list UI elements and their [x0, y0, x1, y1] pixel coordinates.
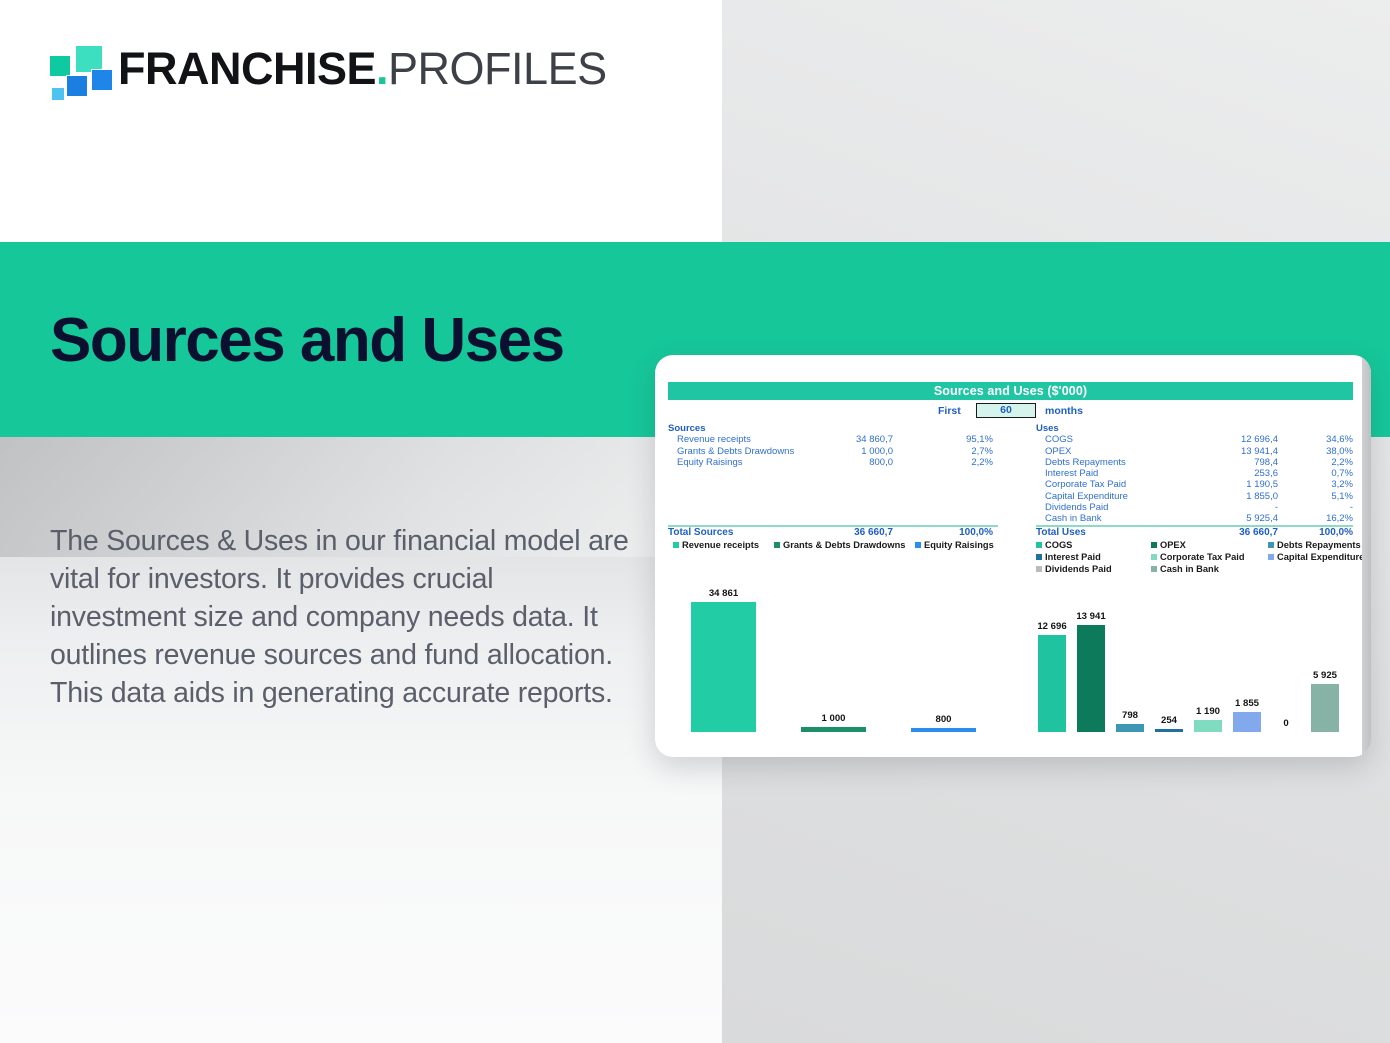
- bar-value-label: 5 925: [1297, 670, 1353, 681]
- total-label: Total Uses: [1036, 527, 1086, 538]
- table-row: Interest Paid 253,6 0,7%: [1036, 468, 1353, 479]
- table-row: Dividends Paid - -: [1036, 502, 1353, 513]
- table-row: Cash in Bank 5 925,4 16,2%: [1036, 513, 1353, 524]
- legend-label: Equity Raisings: [924, 540, 994, 550]
- total-label: Total Sources: [668, 527, 733, 538]
- table-row: COGS 12 696,4 34,6%: [1036, 434, 1353, 445]
- logo-square-blue-mid: [66, 75, 88, 97]
- table-row: Debts Repayments 798,4 2,2%: [1036, 457, 1353, 468]
- legend-swatch-icon: [1036, 554, 1042, 560]
- table-row: Corporate Tax Paid 1 190,5 3,2%: [1036, 479, 1353, 490]
- brand-name-dot: .: [376, 43, 388, 94]
- uses-total-row: Total Uses 36 660,7 100,0%: [1036, 527, 1353, 539]
- legend-swatch-icon: [1268, 542, 1274, 548]
- legend-label: Dividends Paid: [1045, 564, 1112, 574]
- table-row: OPEX 13 941,4 38,0%: [1036, 446, 1353, 457]
- bar-capital-expenditure: [1233, 712, 1261, 732]
- legend-label: Revenue receipts: [682, 540, 759, 550]
- legend-label: Interest Paid: [1045, 552, 1101, 562]
- legend-swatch-icon: [1268, 554, 1274, 560]
- legend-label: COGS: [1045, 540, 1072, 550]
- sources-chart-legend: Revenue receipts Grants & Debts Drawdown…: [673, 540, 1003, 554]
- row-amount: 34 860,7: [778, 434, 893, 445]
- legend-label: Capital Expenditure: [1277, 552, 1364, 562]
- row-percent: 2,2%: [903, 457, 993, 468]
- row-label: COGS: [1045, 434, 1073, 445]
- legend-swatch-icon: [673, 542, 679, 548]
- row-label: Corporate Tax Paid: [1045, 479, 1126, 490]
- legend-swatch-icon: [1151, 554, 1157, 560]
- total-percent: 100,0%: [1286, 527, 1353, 538]
- legend-item[interactable]: Corporate Tax Paid: [1151, 552, 1245, 562]
- period-months-input[interactable]: 60: [976, 403, 1036, 418]
- row-amount: 1 855,0: [1146, 491, 1278, 502]
- sources-table-header: Sources: [668, 423, 998, 434]
- legend-swatch-icon: [774, 542, 780, 548]
- bar-value-label: 12 696: [1024, 621, 1080, 632]
- row-label: OPEX: [1045, 446, 1071, 457]
- bar-corporate-tax-paid: [1194, 720, 1222, 732]
- brand-logo: [49, 45, 107, 97]
- row-label: Cash in Bank: [1045, 513, 1102, 524]
- legend-item[interactable]: COGS: [1036, 540, 1072, 550]
- table-row: Capital Expenditure 1 855,0 5,1%: [1036, 491, 1353, 502]
- legend-swatch-icon: [1036, 542, 1042, 548]
- row-percent: 3,2%: [1286, 479, 1353, 490]
- bar-value-label: 1 855: [1219, 698, 1275, 709]
- legend-item[interactable]: OPEX: [1151, 540, 1186, 550]
- row-amount: 13 941,4: [1146, 446, 1278, 457]
- legend-item[interactable]: Revenue receipts: [673, 540, 759, 550]
- legend-item[interactable]: Capital Expenditure: [1268, 552, 1364, 562]
- spreadsheet-card: Sources and Uses ($'000) First 60 months…: [655, 355, 1371, 757]
- legend-item[interactable]: Grants & Debts Drawdowns: [774, 540, 905, 550]
- legend-label: Corporate Tax Paid: [1160, 552, 1245, 562]
- row-label: Interest Paid: [1045, 468, 1098, 479]
- row-percent: -: [1286, 502, 1353, 513]
- bar-cash-in-bank: [1311, 684, 1339, 732]
- bar-opex: [1077, 625, 1105, 732]
- row-label: Equity Raisings: [677, 457, 742, 468]
- sources-total-row: Total Sources 36 660,7 100,0%: [668, 527, 998, 539]
- legend-swatch-icon: [1151, 542, 1157, 548]
- row-percent: 0,7%: [1286, 468, 1353, 479]
- legend-label: OPEX: [1160, 540, 1186, 550]
- logo-square-cyan-small: [51, 87, 65, 101]
- uses-table-header: Uses: [1036, 423, 1353, 434]
- row-label: Grants & Debts Drawdowns: [677, 446, 794, 457]
- bar-debts-repayments: [1116, 724, 1144, 732]
- row-percent: 2,2%: [1286, 457, 1353, 468]
- row-amount: 253,6: [1146, 468, 1278, 479]
- background-top-white: [0, 0, 722, 242]
- uses-table: Uses COGS 12 696,4 34,6% OPEX 13 941,4 3…: [1036, 423, 1353, 525]
- uses-header-label: Uses: [1036, 423, 1059, 434]
- total-percent: 100,0%: [903, 527, 993, 538]
- legend-item[interactable]: Equity Raisings: [915, 540, 994, 550]
- row-percent: 95,1%: [903, 434, 993, 445]
- bar-value-label: 0: [1258, 718, 1314, 729]
- sheet-title: Sources and Uses ($'000): [668, 382, 1353, 400]
- logo-square-teal-mid: [49, 55, 71, 77]
- brand-name-light: PROFILES: [388, 43, 607, 94]
- bar-value-label: 800: [901, 714, 986, 725]
- card-scrollbar[interactable]: [1362, 355, 1371, 757]
- brand-name-bold: FRANCHISE: [118, 43, 376, 94]
- row-label: Capital Expenditure: [1045, 491, 1128, 502]
- period-suffix-label: months: [1045, 405, 1083, 417]
- total-amount: 36 660,7: [1146, 527, 1278, 538]
- legend-swatch-icon: [1036, 566, 1042, 572]
- row-label: Dividends Paid: [1045, 502, 1108, 513]
- logo-squares-icon: [49, 45, 107, 97]
- row-percent: 2,7%: [903, 446, 993, 457]
- bar-value-label: 34 861: [681, 588, 766, 599]
- sources-bar-chart: 34 861 1 000 800: [668, 577, 1008, 732]
- table-row: Revenue receipts 34 860,7 95,1%: [668, 434, 998, 445]
- bar-cogs: [1038, 635, 1066, 732]
- row-label: Debts Repayments: [1045, 457, 1126, 468]
- period-prefix-label: First: [938, 405, 961, 417]
- legend-item[interactable]: Debts Repayments: [1268, 540, 1361, 550]
- legend-label: Grants & Debts Drawdowns: [783, 540, 905, 550]
- legend-label: Cash in Bank: [1160, 564, 1219, 574]
- bar-revenue-receipts: [691, 602, 756, 732]
- row-amount: -: [1146, 502, 1278, 513]
- legend-item[interactable]: Interest Paid: [1036, 552, 1101, 562]
- body-paragraph: The Sources & Uses in our financial mode…: [50, 522, 630, 712]
- total-amount: 36 660,7: [778, 527, 893, 538]
- slide-canvas: FRANCHISE.PROFILES Sources and Uses The …: [0, 0, 1390, 1043]
- row-label: Revenue receipts: [677, 434, 751, 445]
- uses-bar-chart: 12 696 13 941 798 254 1 190 1 855 0 5 92…: [1030, 577, 1360, 732]
- row-amount: 1 190,5: [1146, 479, 1278, 490]
- bar-value-label: 1 000: [791, 713, 876, 724]
- page-title: Sources and Uses: [50, 305, 564, 376]
- row-amount: 800,0: [778, 457, 893, 468]
- table-row: Grants & Debts Drawdowns 1 000,0 2,7%: [668, 446, 998, 457]
- row-amount: 798,4: [1146, 457, 1278, 468]
- logo-square-blue-right: [91, 69, 113, 91]
- row-percent: 16,2%: [1286, 513, 1353, 524]
- row-amount: 1 000,0: [778, 446, 893, 457]
- uses-chart-legend: COGS OPEX Debts Repayments Interest Paid…: [1036, 540, 1356, 580]
- legend-swatch-icon: [915, 542, 921, 548]
- bar-interest-paid: [1155, 729, 1183, 732]
- bar-grants-debts-drawdowns: [801, 727, 866, 732]
- sources-table: Sources Revenue receipts 34 860,7 95,1% …: [668, 423, 998, 468]
- row-percent: 5,1%: [1286, 491, 1353, 502]
- legend-swatch-icon: [1151, 566, 1157, 572]
- legend-item[interactable]: Cash in Bank: [1151, 564, 1219, 574]
- row-amount: 5 925,4: [1146, 513, 1278, 524]
- row-percent: 34,6%: [1286, 434, 1353, 445]
- row-amount: 12 696,4: [1146, 434, 1278, 445]
- brand-wordmark: FRANCHISE.PROFILES: [118, 40, 607, 98]
- row-percent: 38,0%: [1286, 446, 1353, 457]
- sources-header-label: Sources: [668, 423, 706, 434]
- bar-equity-raisings: [911, 728, 976, 732]
- legend-label: Debts Repayments: [1277, 540, 1361, 550]
- bar-value-label: 13 941: [1063, 611, 1119, 622]
- legend-item[interactable]: Dividends Paid: [1036, 564, 1112, 574]
- table-row: Equity Raisings 800,0 2,2%: [668, 457, 998, 468]
